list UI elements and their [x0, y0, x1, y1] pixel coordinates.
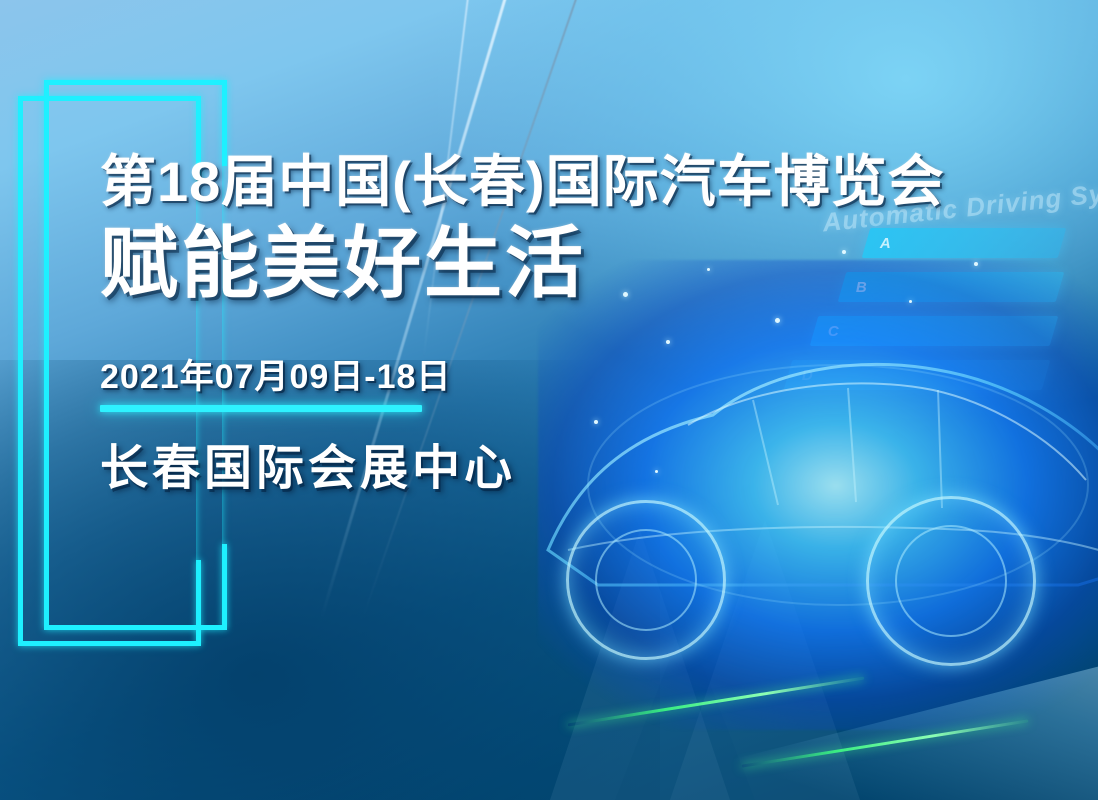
hud-panel-a-label: A [880, 235, 891, 252]
particle-sparkle [909, 300, 912, 303]
hud-panel-b: B [838, 272, 1065, 302]
car-front-wheel [566, 500, 726, 660]
poster-headline: 第18届中国(长春)国际汽车博览会 [100, 150, 860, 214]
car-rear-wheel [866, 496, 1036, 666]
m-shaped-wedge-graphic [520, 500, 960, 800]
poster-venue: 长春国际会展中心 [100, 428, 860, 498]
green-laser-streak [742, 719, 1029, 767]
accent-underline-bar [100, 405, 422, 412]
poster-date: 2021年07月09日-18日 [100, 349, 860, 398]
ground-plane [458, 570, 1098, 800]
poster-text-block: 第18届中国(长春)国际汽车博览会 赋能美好生活 2021年07月09日-18日… [100, 150, 860, 498]
poster-canvas: Automatic Driving Sy A B C D [0, 0, 1098, 800]
green-laser-streak [568, 677, 865, 727]
particle-sparkle [974, 262, 978, 266]
poster-subheadline: 赋能美好生活 [100, 220, 860, 307]
hud-panel-a: A [862, 228, 1067, 258]
